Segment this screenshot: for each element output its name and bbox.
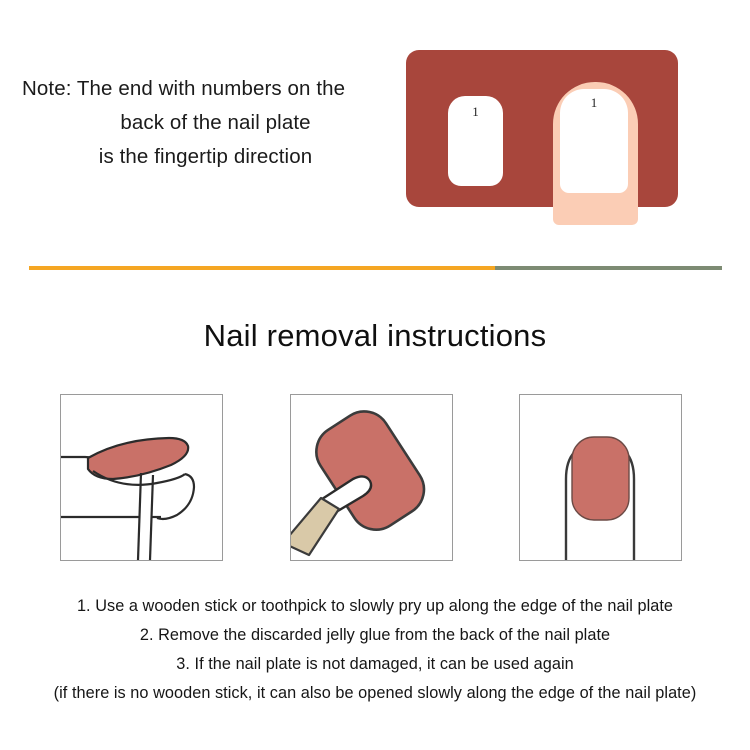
section-divider bbox=[29, 266, 722, 270]
panel-wooden-stick-under-nail bbox=[290, 394, 453, 561]
page-root: Note: The end with numbers on the back o… bbox=[0, 0, 750, 750]
nail-number-left: 1 bbox=[472, 104, 479, 186]
divider-orange-segment bbox=[29, 266, 495, 270]
note-line-3: is the fingertip direction bbox=[10, 140, 395, 174]
instruction-list: 1. Use a wooden stick or toothpick to sl… bbox=[0, 592, 750, 708]
divider-green-segment bbox=[495, 266, 722, 270]
instruction-line-1: 1. Use a wooden stick or toothpick to sl… bbox=[0, 592, 750, 621]
nail-card-illustration: 1 1 bbox=[406, 50, 678, 225]
nail-number-right: 1 bbox=[591, 95, 598, 193]
intact-nail-illustration bbox=[520, 395, 681, 560]
nail-sticker-left: 1 bbox=[448, 96, 503, 186]
panel-pry-up-nail-plate bbox=[60, 394, 223, 561]
pry-up-illustration bbox=[61, 395, 222, 560]
instruction-line-3: 3. If the nail plate is not damaged, it … bbox=[0, 650, 750, 679]
instruction-line-2: 2. Remove the discarded jelly glue from … bbox=[0, 621, 750, 650]
note-line-2: back of the nail plate bbox=[10, 106, 395, 140]
stick-under-nail-illustration bbox=[291, 395, 452, 560]
panel-intact-nail-plate bbox=[519, 394, 682, 561]
note-line-1: Note: The end with numbers on the bbox=[10, 72, 395, 106]
nail-sticker-right: 1 bbox=[560, 89, 628, 193]
instruction-line-4: (if there is no wooden stick, it can als… bbox=[0, 679, 750, 708]
instruction-panels bbox=[60, 394, 683, 563]
page-title: Nail removal instructions bbox=[0, 318, 750, 354]
note-section: Note: The end with numbers on the back o… bbox=[0, 0, 750, 255]
note-text-block: Note: The end with numbers on the back o… bbox=[10, 72, 395, 174]
